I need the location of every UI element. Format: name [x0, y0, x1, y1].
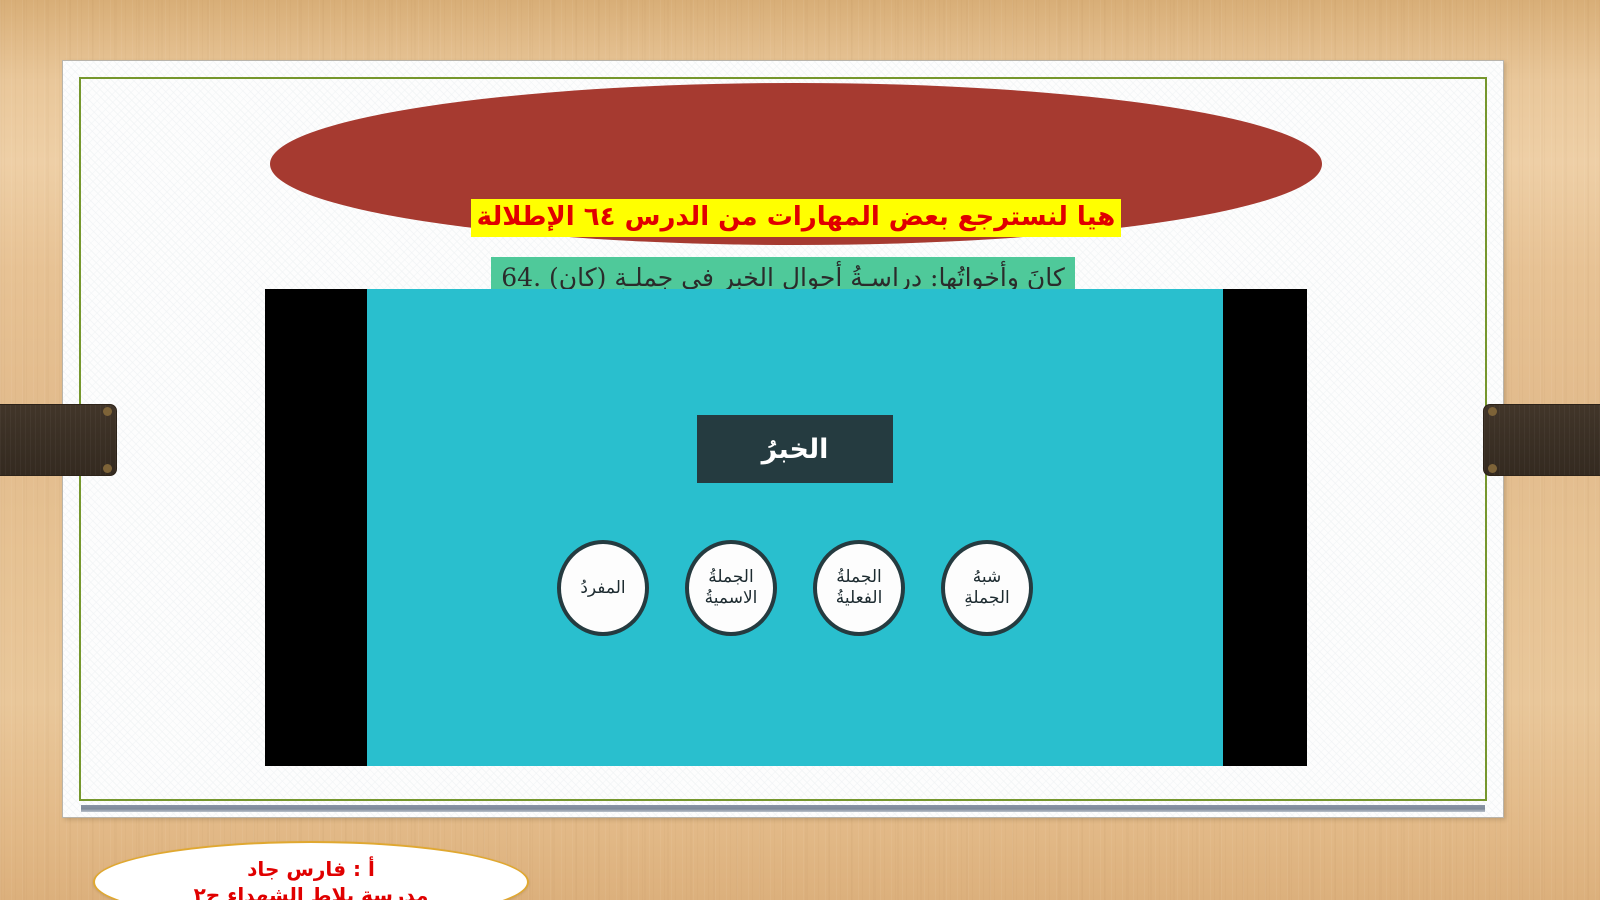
concept-node-label-line2: الفعليةُ [836, 588, 883, 608]
concept-node-aljumla-alismiyya: الجملةُالاسميةُ [685, 540, 777, 636]
left-clamp-bar [0, 404, 117, 476]
concept-heading-label: الخبرُ [762, 434, 829, 465]
concept-heading-box: الخبرُ [697, 415, 893, 483]
concept-node-label-line1: المفردُ [580, 578, 625, 598]
school-name: مدرسة بلاط الشهداء ح٢ [194, 883, 429, 900]
banner-title-container: هيا لنسترجع بعض المهارات من الدرس ٦٤ الإ… [270, 83, 1322, 245]
video-stage: الخبرُ شبهُالجملةِ الجملةُالفعليةُ الجمل… [367, 289, 1223, 766]
clamp-knob-icon [103, 464, 112, 473]
clamp-knob-icon [1488, 407, 1497, 416]
teacher-name: أ : فارس جاد [247, 857, 375, 882]
content-divider-rule [81, 805, 1485, 812]
concept-node-label: الجملةُالاسميةُ [705, 567, 758, 609]
concept-node-shibh-aljumla: شبهُالجملةِ [941, 540, 1033, 636]
concept-node-label-line1: شبهُ [973, 567, 1002, 587]
concept-node-label: المفردُ [580, 578, 625, 599]
embedded-video-player[interactable]: الخبرُ شبهُالجملةِ الجملةُالفعليةُ الجمل… [265, 289, 1307, 766]
concept-node-aljumla-alfiliyya: الجملةُالفعليةُ [813, 540, 905, 636]
concept-node-label: شبهُالجملةِ [964, 567, 1009, 609]
concept-node-label-line2: الجملةِ [964, 588, 1009, 608]
clamp-knob-icon [103, 407, 112, 416]
concept-node-label-line1: الجملةُ [836, 567, 881, 587]
slide-title: هيا لنسترجع بعض المهارات من الدرس ٦٤ الإ… [471, 199, 1122, 237]
clamp-knob-icon [1488, 464, 1497, 473]
concept-node-row: شبهُالجملةِ الجملةُالفعليةُ الجملةُالاسم… [557, 540, 1033, 636]
concept-node-label: الجملةُالفعليةُ [836, 567, 883, 609]
concept-node-label-line1: الجملةُ [708, 567, 753, 587]
concept-node-label-line2: الاسميةُ [705, 588, 758, 608]
concept-node-almufrad: المفردُ [557, 540, 649, 636]
right-clamp-bar [1483, 404, 1600, 476]
presentation-slide: هيا لنسترجع بعض المهارات من الدرس ٦٤ الإ… [62, 60, 1504, 818]
